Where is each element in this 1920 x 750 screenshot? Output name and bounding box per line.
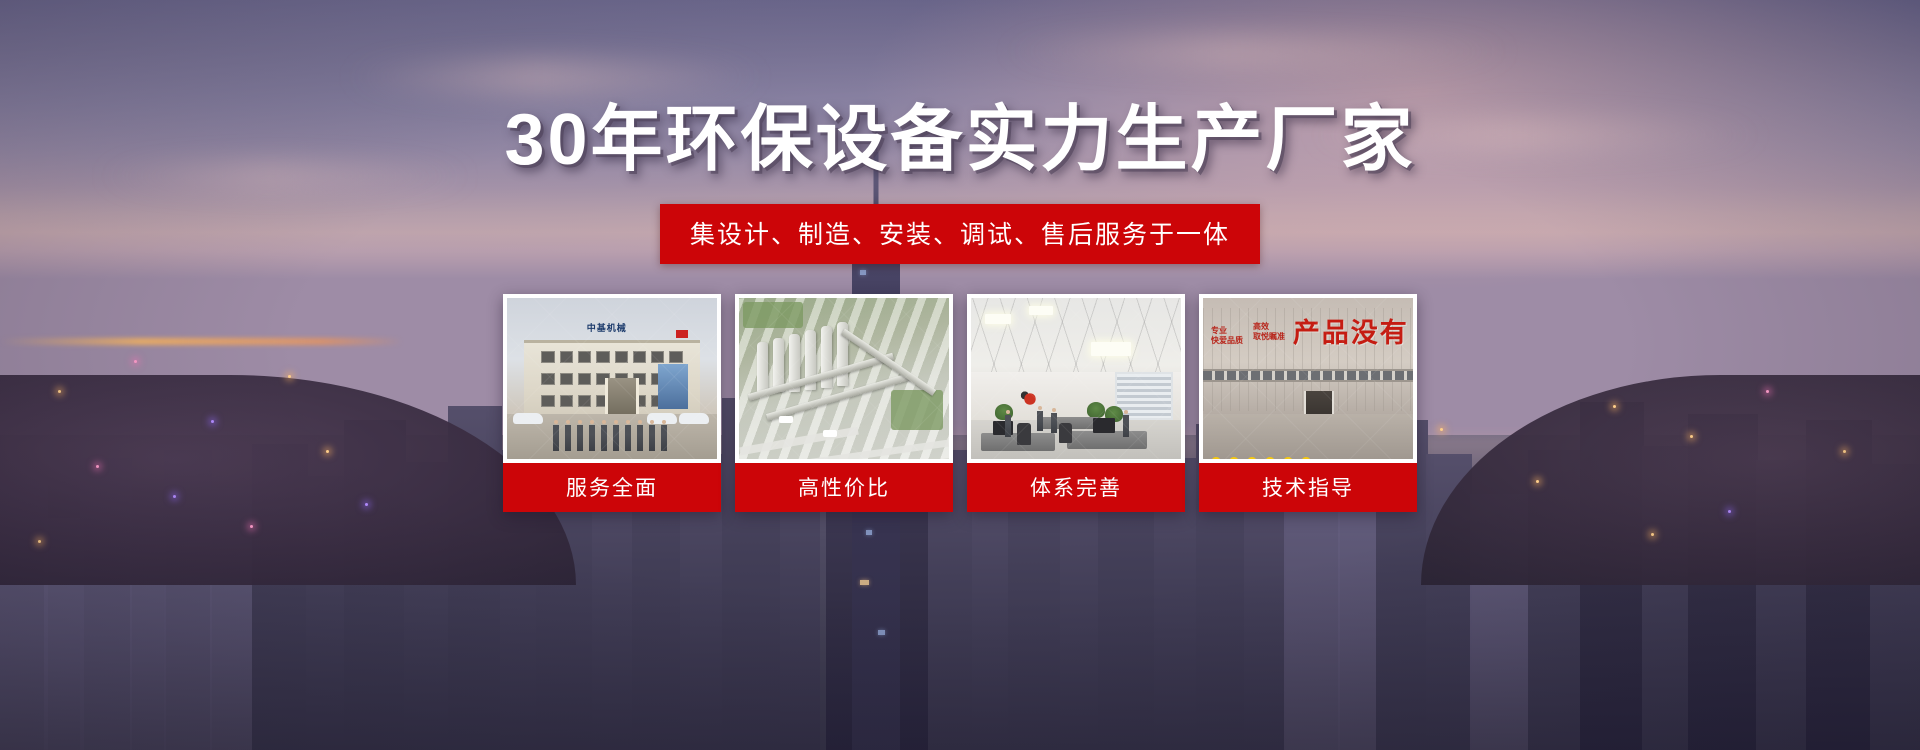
card-photo-workshop-workers: 产品没有 专业快爱品质 高效取悦瞩准 xyxy=(1203,298,1413,459)
building-signage: 中基机械 xyxy=(587,321,627,334)
card-caption: 体系完善 xyxy=(967,463,1185,512)
card-caption: 高性价比 xyxy=(735,463,953,512)
card-photo-office-interior xyxy=(971,298,1181,459)
factory-signage: 产品没有 xyxy=(1293,311,1409,350)
wall-logo xyxy=(1017,387,1043,407)
feature-card[interactable]: 产品没有 专业快爱品质 高效取悦瞩准 xyxy=(1199,294,1417,512)
feature-card[interactable]: 中基机械 xyxy=(503,294,721,512)
subtitle-banner: 集设计、制造、安装、调试、售后服务于一体 xyxy=(660,204,1260,264)
card-photo-factory-aerial xyxy=(739,298,949,459)
hero-banner: 30年环保设备实力生产厂家 集设计、制造、安装、调试、售后服务于一体 中基机械 xyxy=(0,0,1920,750)
card-caption: 服务全面 xyxy=(503,463,721,512)
factory-slogan-right: 高效取悦瞩准 xyxy=(1253,322,1285,341)
page-title: 30年环保设备实力生产厂家 xyxy=(504,104,1415,176)
feature-card[interactable]: 体系完善 xyxy=(967,294,1185,512)
feature-card-list: 中基机械 xyxy=(503,294,1417,512)
factory-slogan-left: 专业快爱品质 xyxy=(1211,326,1243,345)
card-caption: 技术指导 xyxy=(1199,463,1417,512)
flag-icon xyxy=(676,330,688,338)
card-photo-office-building: 中基机械 xyxy=(507,298,717,459)
feature-card[interactable]: 高性价比 xyxy=(735,294,953,512)
